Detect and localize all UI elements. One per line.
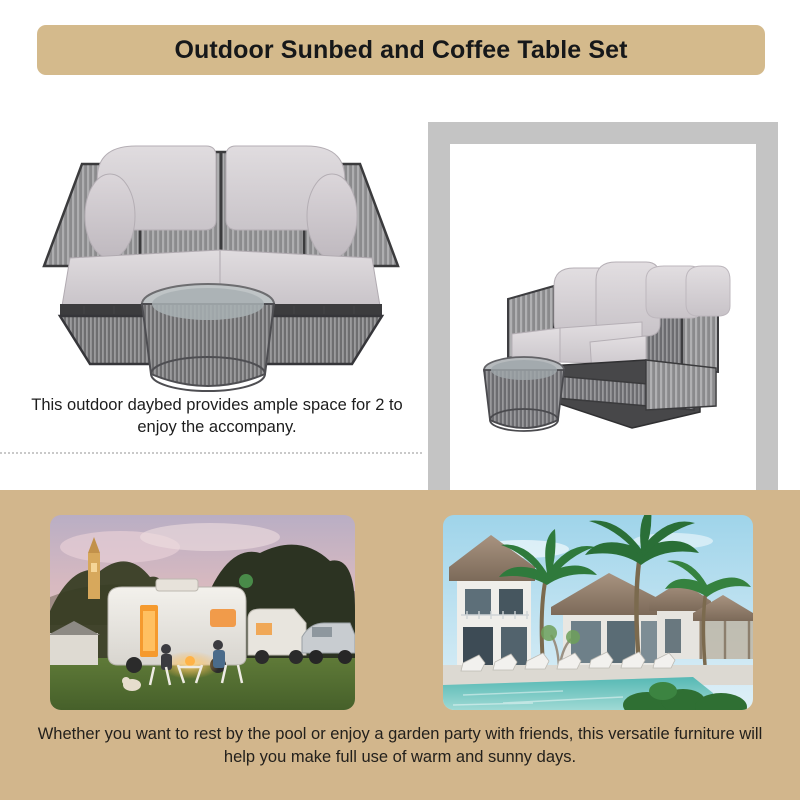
product-image-daybed-front bbox=[22, 106, 420, 396]
campsite-caravan-illustration bbox=[50, 515, 355, 710]
tropical-resort-pool-illustration bbox=[443, 515, 753, 710]
lifestyle-caption: Whether you want to rest by the pool or … bbox=[30, 723, 770, 769]
daybed-front-illustration bbox=[22, 106, 420, 396]
product-caption-left: This outdoor daybed provides ample space… bbox=[12, 394, 422, 439]
page-title: Outdoor Sunbed and Coffee Table Set bbox=[174, 36, 627, 65]
bottom-section: Whether you want to rest by the pool or … bbox=[0, 490, 800, 800]
lifestyle-photo-resort bbox=[443, 515, 753, 710]
lifestyle-photo-row bbox=[0, 515, 800, 710]
section-divider bbox=[0, 452, 422, 454]
framed-image-inner bbox=[450, 144, 756, 544]
top-section: This outdoor daybed provides ample space… bbox=[0, 88, 800, 490]
lifestyle-photo-campsite bbox=[50, 515, 355, 710]
header-banner: Outdoor Sunbed and Coffee Table Set bbox=[37, 25, 765, 75]
daybed-angled-illustration bbox=[450, 144, 756, 544]
product-infographic-page: Outdoor Sunbed and Coffee Table Set bbox=[0, 0, 800, 800]
